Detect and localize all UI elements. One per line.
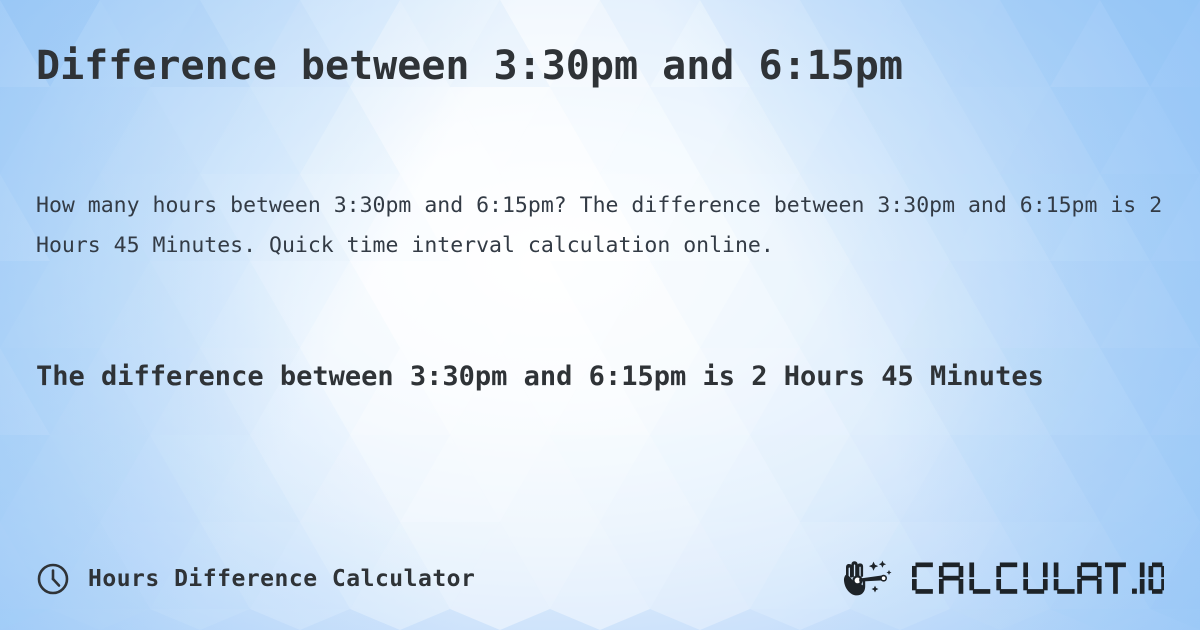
- page-description: How many hours between 3:30pm and 6:15pm…: [36, 186, 1164, 266]
- footer-tool-label: Hours Difference Calculator: [88, 566, 475, 592]
- clock-icon: [36, 562, 70, 596]
- og-image-canvas: Difference between 3:30pm and 6:15pm How…: [0, 0, 1200, 630]
- footer: Hours Difference Calculator: [36, 556, 1164, 602]
- brand-logo[interactable]: CALCULAT.IO: [842, 558, 1164, 600]
- hand-magic-wand-icon: [842, 558, 904, 600]
- content-area: Difference between 3:30pm and 6:15pm How…: [0, 0, 1200, 630]
- hours-difference-calculator-link[interactable]: Hours Difference Calculator: [36, 562, 475, 596]
- result-heading: The difference between 3:30pm and 6:15pm…: [36, 352, 1146, 402]
- page-title: Difference between 3:30pm and 6:15pm: [36, 38, 903, 94]
- brand-wordmark: CALCULAT.IO: [912, 559, 1164, 599]
